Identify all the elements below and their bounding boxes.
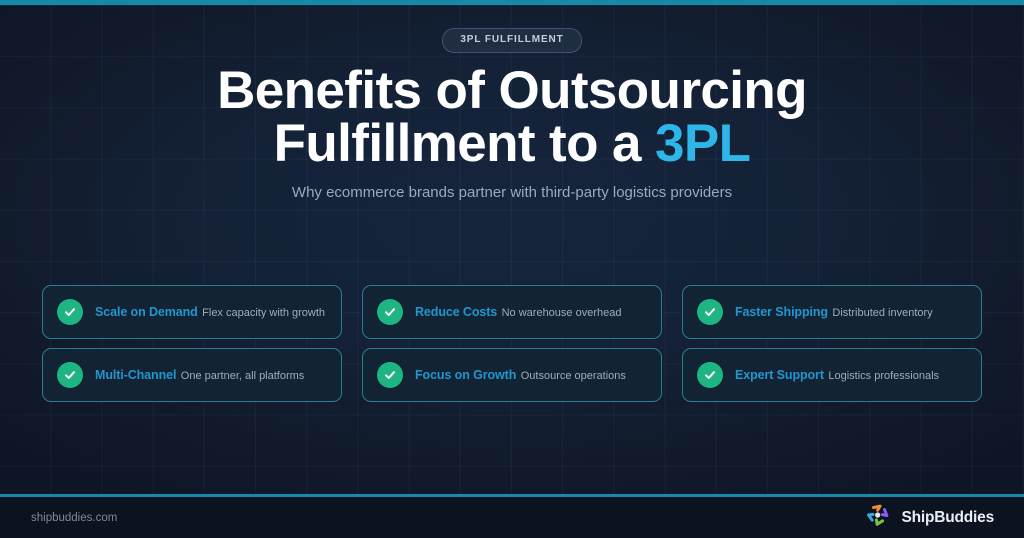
brand-lockup: ShipBuddies <box>864 502 994 533</box>
headline-accent-3pl: 3PL <box>655 114 750 173</box>
shipbuddies-pinwheel-logo <box>864 502 892 533</box>
headline-line-1: Benefits of Outsourcing <box>217 61 807 120</box>
brand-name: ShipBuddies <box>901 509 994 527</box>
benefit-description: No warehouse overhead <box>502 307 622 319</box>
footer-website: shipbuddies.com <box>31 511 117 525</box>
badge-container: 3PL FULFILLMENT <box>0 28 1024 53</box>
benefit-card: Scale on Demand Flex capacity with growt… <box>42 285 342 339</box>
benefit-description: Distributed inventory <box>832 307 932 319</box>
infographic-canvas: 3PL FULFILLMENT Benefits of Outsourcing … <box>0 0 1024 538</box>
headline-line-2: Fulfillment to a 3PL <box>0 117 1024 170</box>
benefit-title: Scale on Demand <box>95 305 198 319</box>
benefit-title: Focus on Growth <box>415 368 516 382</box>
benefit-title: Multi-Channel <box>95 368 176 382</box>
footer: shipbuddies.com <box>0 497 1024 538</box>
check-circle-icon <box>697 299 723 325</box>
page-subtitle: Why ecommerce brands partner with third-… <box>0 183 1024 203</box>
benefit-card: Reduce Costs No warehouse overhead <box>362 285 662 339</box>
benefit-card: Expert Support Logistics professionals <box>682 348 982 402</box>
check-circle-icon <box>697 362 723 388</box>
benefit-description: Outsource operations <box>521 370 626 382</box>
benefit-title: Reduce Costs <box>415 305 497 319</box>
check-circle-icon <box>57 362 83 388</box>
benefit-description: Flex capacity with growth <box>202 307 325 319</box>
benefit-card: Multi-Channel One partner, all platforms <box>42 348 342 402</box>
check-circle-icon <box>377 362 403 388</box>
benefit-title: Faster Shipping <box>735 305 828 319</box>
benefit-title: Expert Support <box>735 368 824 382</box>
benefits-grid: Scale on Demand Flex capacity with growt… <box>42 285 982 402</box>
page-title: Benefits of Outsourcing Fulfillment to a… <box>0 64 1024 170</box>
benefit-description: Logistics professionals <box>828 370 939 382</box>
headline-line-2-prefix: Fulfillment to a <box>274 114 655 173</box>
category-badge: 3PL FULFILLMENT <box>442 28 581 53</box>
check-circle-icon <box>377 299 403 325</box>
benefit-card: Faster Shipping Distributed inventory <box>682 285 982 339</box>
benefit-card: Focus on Growth Outsource operations <box>362 348 662 402</box>
check-circle-icon <box>57 299 83 325</box>
benefit-description: One partner, all platforms <box>181 370 305 382</box>
